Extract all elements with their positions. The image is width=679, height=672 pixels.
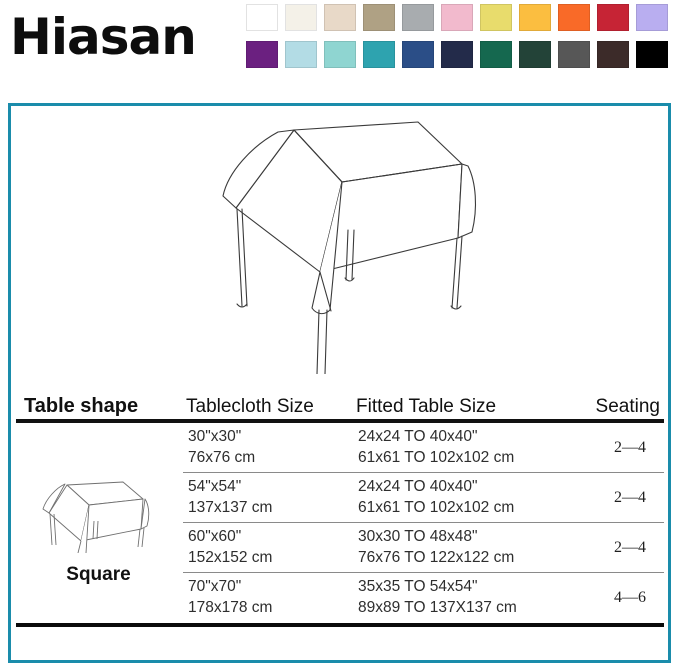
cell-fitted-size-cm: 61x61 TO 102x102 cm: [358, 449, 514, 467]
color-swatch-yellow[interactable]: [480, 4, 512, 31]
content-frame: Table shape Tablecloth Size Fitted Table…: [8, 103, 671, 663]
table-body: Square 30"x30"76x76 cm24x24 TO 40x40"61x…: [16, 423, 664, 623]
cell-seating: 2—4: [614, 489, 646, 507]
column-header-tablecloth-size: Tablecloth Size: [186, 396, 314, 418]
color-swatch-light-blue[interactable]: [285, 41, 317, 68]
color-swatch-gray[interactable]: [402, 4, 434, 31]
cell-fitted-size-inches: 24x24 TO 40x40": [358, 428, 478, 446]
specification-table: Table shape Tablecloth Size Fitted Table…: [16, 384, 664, 627]
color-swatch-amber[interactable]: [519, 4, 551, 31]
cell-tablecloth-size-cm: 76x76 cm: [188, 449, 255, 467]
color-swatch-beige[interactable]: [324, 4, 356, 31]
cell-fitted-size-inches: 24x24 TO 40x40": [358, 478, 478, 496]
brand-logo: Hiasan: [10, 8, 196, 66]
cell-fitted-size-inches: 30x30 TO 48x48": [358, 528, 478, 546]
color-swatch-teal[interactable]: [363, 41, 395, 68]
page-header: Hiasan: [0, 0, 679, 96]
cell-seating: 4—6: [614, 589, 646, 607]
color-swatch-white[interactable]: [246, 4, 278, 31]
color-swatch-dark-brown[interactable]: [597, 41, 629, 68]
color-swatch-navy[interactable]: [441, 41, 473, 68]
color-swatch-lavender[interactable]: [636, 4, 668, 31]
table-row: 30"x30"76x76 cm24x24 TO 40x40"61x61 TO 1…: [16, 423, 664, 473]
column-header-table-shape: Table shape: [24, 395, 138, 418]
cell-tablecloth-size-inches: 60"x60": [188, 528, 241, 546]
cell-fitted-size-cm: 89x89 TO 137X137 cm: [358, 599, 517, 617]
table-row: 60"x60"152x152 cm30x30 TO 48x48"76x76 TO…: [16, 523, 664, 573]
column-header-seating: Seating: [596, 396, 660, 418]
color-swatch-aqua[interactable]: [324, 41, 356, 68]
color-swatch-red[interactable]: [597, 4, 629, 31]
table-row: 70"x70"178x178 cm35x35 TO 54x54"89x89 TO…: [16, 573, 664, 623]
cell-fitted-size-cm: 61x61 TO 102x102 cm: [358, 499, 514, 517]
cell-tablecloth-size-cm: 137x137 cm: [188, 499, 272, 517]
color-swatch-panel: [246, 4, 676, 78]
square-table-drawing-svg: [190, 112, 490, 374]
cell-tablecloth-size-inches: 30"x30": [188, 428, 241, 446]
cell-tablecloth-size-cm: 152x152 cm: [188, 549, 272, 567]
cell-fitted-size-inches: 35x35 TO 54x54": [358, 578, 478, 596]
swatch-row-2: [246, 41, 676, 68]
table-row: 54"x54"137x137 cm24x24 TO 40x40"61x61 TO…: [16, 473, 664, 523]
swatch-row-1: [246, 4, 676, 31]
column-header-fitted-size: Fitted Table Size: [356, 396, 496, 418]
color-swatch-black[interactable]: [636, 41, 668, 68]
cell-fitted-size-cm: 76x76 TO 122x122 cm: [358, 549, 514, 567]
cell-seating: 2—4: [614, 439, 646, 457]
color-swatch-green[interactable]: [480, 41, 512, 68]
color-swatch-taupe[interactable]: [363, 4, 395, 31]
cell-seating: 2—4: [614, 539, 646, 557]
color-swatch-ivory[interactable]: [285, 4, 317, 31]
color-swatch-dark-green[interactable]: [519, 41, 551, 68]
color-swatch-orange[interactable]: [558, 4, 590, 31]
cell-tablecloth-size-cm: 178x178 cm: [188, 599, 272, 617]
color-swatch-pink[interactable]: [441, 4, 473, 31]
color-swatch-purple[interactable]: [246, 41, 278, 68]
table-illustration: [11, 112, 668, 382]
color-swatch-blue[interactable]: [402, 41, 434, 68]
cell-tablecloth-size-inches: 54"x54": [188, 478, 241, 496]
cell-tablecloth-size-inches: 70"x70": [188, 578, 241, 596]
table-header-row: Table shape Tablecloth Size Fitted Table…: [16, 384, 664, 418]
color-swatch-charcoal[interactable]: [558, 41, 590, 68]
